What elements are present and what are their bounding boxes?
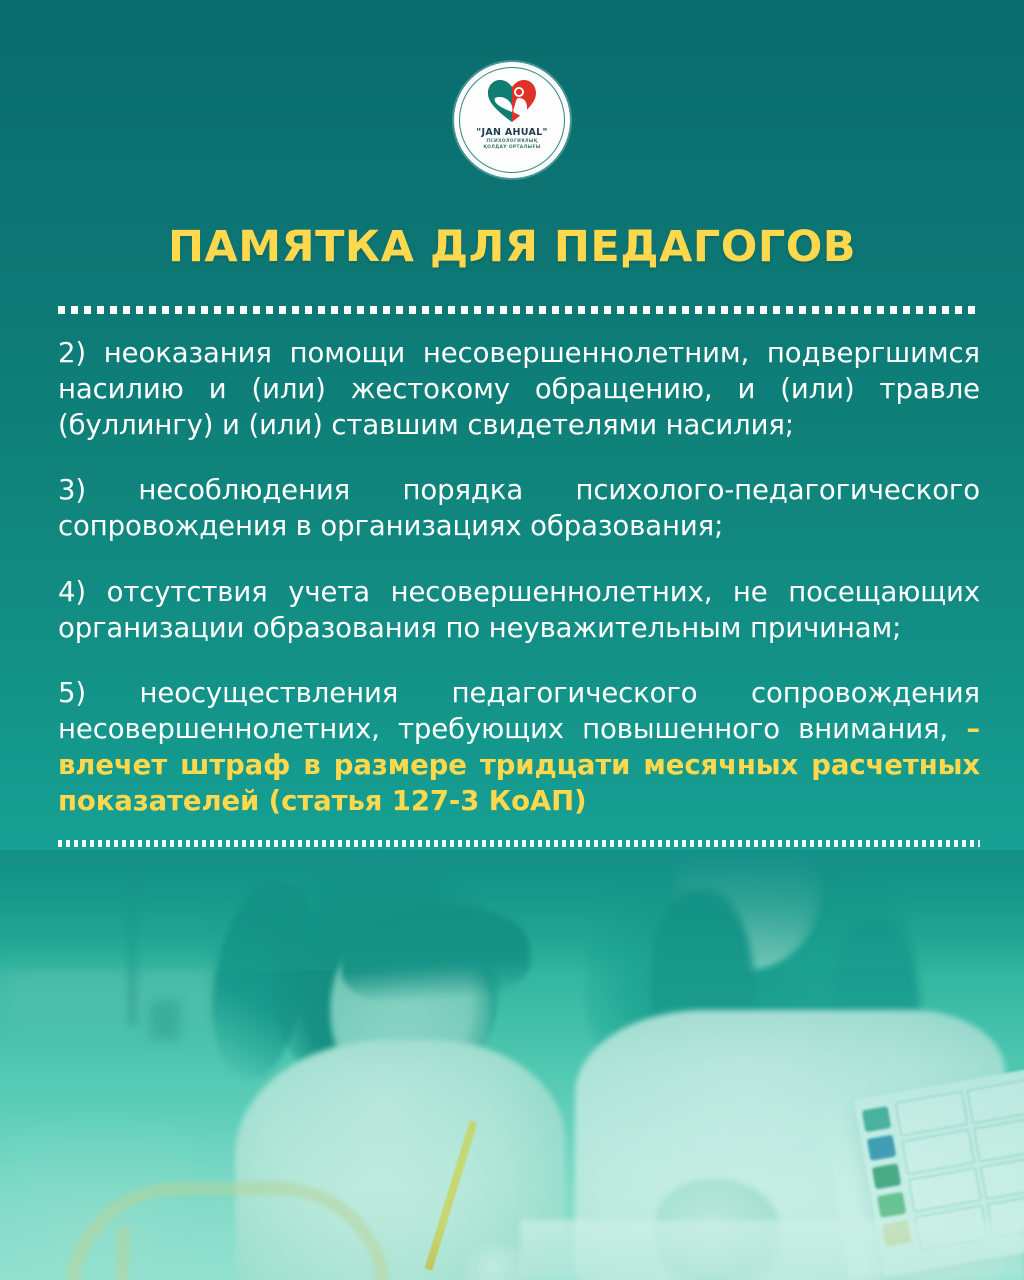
brand-logo: "JAN AHUAL" ПСИХОЛОГИЯЛЫҚ ҚОЛДАУ ОРТАЛЫҒ… (454, 62, 570, 178)
paragraph-item-3: 3) несоблюдения порядка психолого-педаго… (58, 473, 980, 545)
paragraph-item-5: 5) неосуществления педагогического сопро… (58, 676, 980, 819)
divider-top (58, 306, 980, 314)
page-title: ПАМЯТКА ДЛЯ ПЕДАГОГОВ (0, 222, 1024, 272)
heart-with-person-icon (486, 79, 538, 123)
paragraph-item-5-text: 5) неосуществления педагогического сопро… (58, 677, 980, 745)
paragraph-item-4: 4) отсутствия учета несовершеннолетних, … (58, 575, 980, 647)
paragraph-item-2: 2) неоказания помощи несовершеннолетним,… (58, 336, 980, 443)
logo-container: "JAN AHUAL" ПСИХОЛОГИЯЛЫҚ ҚОЛДАУ ОРТАЛЫҒ… (0, 62, 1024, 178)
poster-canvas: "JAN AHUAL" ПСИХОЛОГИЯЛЫҚ ҚОЛДАУ ОРТАЛЫҒ… (0, 0, 1024, 1280)
body-text-block: 2) неоказания помощи несовершеннолетним,… (58, 336, 980, 819)
divider-bottom (58, 840, 980, 847)
poster-content: "JAN AHUAL" ПСИХОЛОГИЯЛЫҚ ҚОЛДАУ ОРТАЛЫҒ… (0, 0, 1024, 1280)
